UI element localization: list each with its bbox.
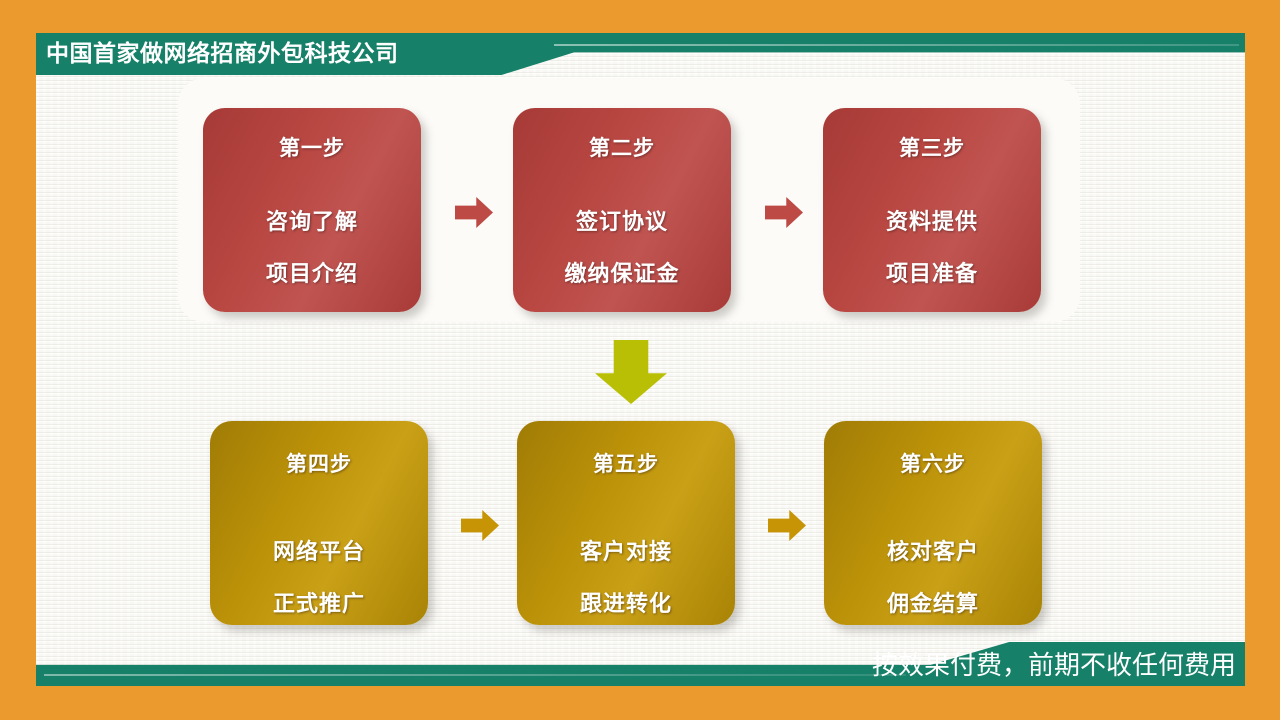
step-2-line-1: 签订协议 <box>576 204 668 236</box>
header-hairline <box>554 44 1239 46</box>
slide-canvas: 中国首家做网络招商外包科技公司 第一步 咨询了解 项目介绍 第二步 签订协议 缴… <box>0 0 1280 720</box>
step-6-line-1: 核对客户 <box>887 534 979 566</box>
footer-tagline: 按效果付费，前期不收任何费用 <box>872 647 1236 683</box>
step-3-line-2: 项目准备 <box>886 256 978 288</box>
footer-hairline <box>44 674 906 676</box>
step-6-line-2: 佣金结算 <box>887 586 979 618</box>
step-box-4[interactable]: 第四步 网络平台 正式推广 <box>210 421 428 625</box>
step-1-line-1: 咨询了解 <box>266 204 358 236</box>
step-4-line-1: 网络平台 <box>273 534 365 566</box>
step-4-heading: 第四步 <box>286 448 352 478</box>
step-2-line-2: 缴纳保证金 <box>564 256 679 288</box>
step-2-heading: 第二步 <box>589 132 655 162</box>
step-box-2[interactable]: 第二步 签订协议 缴纳保证金 <box>513 108 731 312</box>
step-5-heading: 第五步 <box>593 448 659 478</box>
step-5-line-1: 客户对接 <box>580 534 672 566</box>
page-title: 中国首家做网络招商外包科技公司 <box>46 37 399 70</box>
step-3-heading: 第三步 <box>899 132 965 162</box>
step-5-line-2: 跟进转化 <box>580 586 672 618</box>
step-box-1[interactable]: 第一步 咨询了解 项目介绍 <box>203 108 421 312</box>
step-box-3[interactable]: 第三步 资料提供 项目准备 <box>823 108 1041 312</box>
step-box-6[interactable]: 第六步 核对客户 佣金结算 <box>824 421 1042 625</box>
step-box-5[interactable]: 第五步 客户对接 跟进转化 <box>517 421 735 625</box>
step-3-line-1: 资料提供 <box>886 204 978 236</box>
step-4-line-2: 正式推广 <box>273 586 365 618</box>
step-6-heading: 第六步 <box>900 448 966 478</box>
step-1-heading: 第一步 <box>279 132 345 162</box>
step-1-line-2: 项目介绍 <box>266 256 358 288</box>
